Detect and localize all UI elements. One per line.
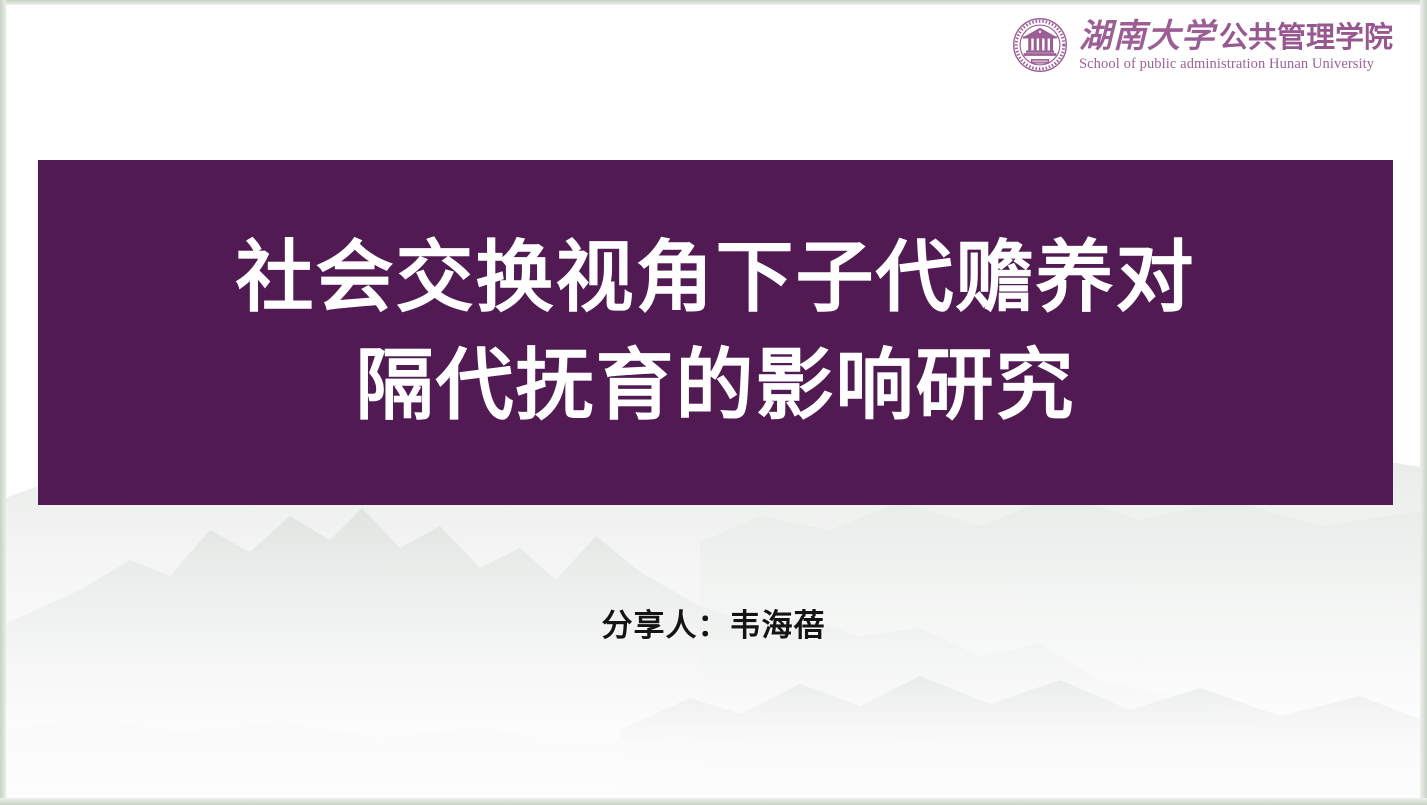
presenter-label: 分享人：韦海蓓 xyxy=(0,600,1427,645)
logo-text: 湖南大学 公共管理学院 School of public administrat… xyxy=(1079,19,1393,72)
logo-university-name: 湖南大学 xyxy=(1079,19,1215,52)
title-line-2: 隔代抚育的影响研究 xyxy=(355,333,1075,441)
hunan-university-seal-icon xyxy=(1011,16,1069,74)
university-logo: 湖南大学 公共管理学院 School of public administrat… xyxy=(1011,16,1393,74)
title-line-1: 社会交换视角下子代赡养对 xyxy=(235,225,1195,333)
slide: 湖南大学 公共管理学院 School of public administrat… xyxy=(0,0,1427,805)
title-band: 社会交换视角下子代赡养对 隔代抚育的影响研究 xyxy=(38,160,1393,505)
slide-border-left xyxy=(0,0,6,805)
slide-border-right xyxy=(1420,0,1427,805)
logo-english-name: School of public administration Hunan Un… xyxy=(1079,57,1374,72)
slide-border-top xyxy=(0,0,1427,5)
slide-border-bottom xyxy=(0,798,1427,805)
logo-school-name: 公共管理学院 xyxy=(1219,23,1393,52)
logo-chinese-row: 湖南大学 公共管理学院 xyxy=(1079,19,1393,52)
